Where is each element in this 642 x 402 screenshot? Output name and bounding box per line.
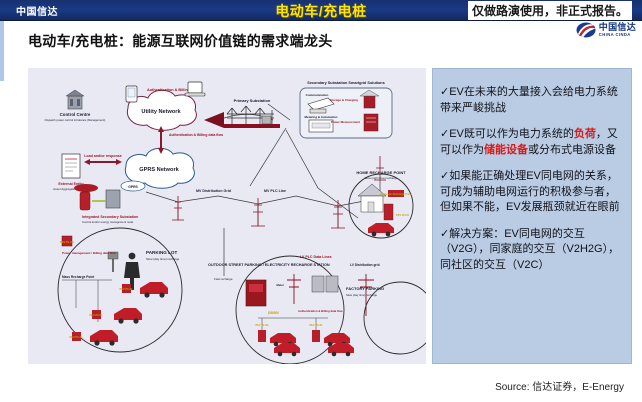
icon-ev-plug-box-6: [258, 330, 266, 342]
header-disclaimer: 仅做路演使用，非正式报告。: [468, 1, 632, 20]
bullet-2-highlight-2: 储能设备: [484, 144, 528, 156]
label-control-centre: Control Centre: [60, 112, 91, 117]
node-factory-parking: LV Distribution grid FACTORY PARKING Slo…: [346, 263, 426, 354]
insight-panel: ✓EV在未来的大量接入会给电力系统带来严峻挑战 ✓EV既可以作为电力系统的负荷，…: [432, 68, 632, 364]
icon-distribution-boxes: [312, 276, 338, 292]
slide-root: 中国信达 电动车/充电桩 仅做路演使用，非正式报告。 中国信达 CHINA CI…: [0, 0, 642, 402]
source-note: Source: 信达证券，E-Energy: [495, 378, 624, 393]
node-outdoor-street: OUTDOOR STREET PARKING / ELECTRICITY REC…: [208, 256, 354, 364]
label-outdoor-street-sub: Fast recharge: [214, 277, 233, 281]
label-power-management: Power management / Billing data flow: [62, 251, 117, 255]
page-title: 电动车/充电桩：能源互联网价值链的需求端龙头: [28, 31, 333, 51]
label-sub-storage: Storage & Charging: [330, 98, 358, 102]
label-primary-substation: Primary Substation: [234, 98, 271, 103]
node-external-entity: [62, 154, 80, 178]
label-ev-plug-4: PEV PLUG: [69, 335, 82, 339]
label-ev-plug-1: PEV PLUG: [60, 240, 74, 244]
label-control-centre-sub: Dispatch power control & balance (Manage…: [45, 118, 106, 122]
label-lv-distribution: LV Distribution grid: [350, 263, 380, 267]
cinda-logo: 中国信达 CHINA CINDA: [576, 22, 636, 38]
label-home-recharge-sub: Slow (night time) recharge: [365, 176, 398, 180]
label-ev-plug-3: PEV PLUG: [89, 313, 102, 317]
label-gprs-network: GPRS Network: [139, 167, 179, 173]
label-ev-plug-5: PEV PLUG: [396, 213, 409, 217]
label-home-recharge: HOME RECHARGE POINT: [356, 170, 406, 175]
label-outdoor-street: OUTDOOR STREET PARKING / ELECTRICITY REC…: [208, 263, 330, 267]
cinda-swoosh-icon: [576, 22, 596, 38]
label-ev-plug-2: PEV PLUG: [119, 287, 132, 291]
check-icon-3: ✓: [440, 170, 449, 182]
label-domestic-recharge: Domestic Recharge Point: [380, 192, 412, 196]
icon-street-pylon: [287, 274, 301, 304]
check-icon-1: ✓: [440, 86, 449, 98]
label-parking-lot-sub: Slow (day time) recharge: [146, 257, 180, 261]
icon-sign-post: [112, 258, 114, 272]
bullet-item-4: ✓解决方案：EV同电网的交互（V2G），同家庭的交互（V2H2G），同社区的交互…: [440, 227, 624, 274]
icon-ev-plug-box-7: [312, 330, 320, 342]
bullet-1-text: EV在未来的大量接入会给电力系统带来严峻挑战: [440, 86, 618, 114]
logo-text-cn: 中国信达: [599, 23, 636, 32]
node-primary-substation: [224, 106, 280, 128]
bullet-item-3: ✓如果能正确处理EV同电网的关系，可成为辅助电网运行的积极参与者，但如果不能，E…: [440, 169, 624, 216]
icon-power-measurement: [364, 114, 378, 131]
label-ev-plug-6: PEV PLUG: [255, 323, 268, 327]
label-meter: Meter: [277, 283, 285, 287]
label-integrated-secondary: Integrated Secondary Substation: [82, 215, 138, 219]
icon-laptop-device: [185, 82, 205, 96]
bullet-item-1: ✓EV在未来的大量接入会给电力系统带来严峻挑战: [440, 85, 624, 116]
icon-metering: [309, 120, 333, 132]
label-factory-parking: FACTORY PARKING: [346, 286, 384, 291]
node-integrated-secondary: GPRS: [74, 181, 145, 210]
label-parking-lot: PARKING LOT: [146, 250, 177, 255]
label-mv-plc-line: MV PLC Line: [264, 189, 286, 193]
label-mv-distribution: MV Distribution Grid: [196, 189, 231, 193]
bullet-4-text: 解决方案：EV同电网的交互（V2G），同家庭的交互（V2H2G），同社区的交互（…: [440, 228, 619, 271]
logo-text-en: CHINA CINDA: [599, 33, 636, 37]
label-ev-plug-7: PEV PLUG: [309, 323, 322, 327]
diagram-canvas: Utility Network GPRS Network Authenticat…: [28, 68, 426, 364]
node-secondary-substation-box: Secondary Substation Smartgrid Solutions…: [300, 81, 392, 138]
label-authentication-billing: Authentication & Billing: [147, 88, 191, 92]
label-integrated-secondary-sub: Control and/or energy management node: [82, 220, 134, 224]
bullet-2-highlight-1: 负荷: [574, 128, 596, 140]
bullet-2-part-3: 或分布式电源设备: [528, 144, 616, 156]
bullet-2-part-1: EV既可以作为电力系统的: [449, 128, 574, 140]
label-sub-metering: Metering & Automation: [305, 115, 338, 119]
logo-text: 中国信达 CHINA CINDA: [599, 23, 636, 37]
icon-house: [358, 184, 386, 212]
check-icon-2: ✓: [440, 128, 449, 140]
icon-recharge-cabinet: [246, 280, 266, 306]
label-mass-recharge: Mass Recharge Point: [62, 275, 95, 279]
arrow-to-primary-substation: [204, 112, 224, 128]
label-auth-billing-flow: Authentication & Billing data flow: [169, 133, 223, 137]
label-secondary-substation: Secondary Substation Smartgrid Solutions: [307, 81, 384, 85]
node-control-centre: [66, 90, 84, 109]
label-sub-communication: Communication: [306, 93, 329, 97]
icon-home-charger: [384, 204, 393, 220]
bullet-item-2: ✓EV既可以作为电力系统的负荷，又可以作为储能设备或分布式电源设备: [440, 127, 624, 158]
left-accent-bar: [0, 21, 4, 81]
label-utility-network: Utility Network: [141, 109, 181, 115]
icon-mobile-device: [126, 86, 137, 102]
icon-car-1: [140, 282, 168, 298]
label-auth-billing-flow-2: Authentication & Billing data flow: [298, 309, 343, 313]
label-db-mv: DB/MV: [268, 311, 280, 315]
node-parking-lot: PARKING LOT Slow (day time) recharge PEV…: [58, 228, 182, 352]
icon-car-2: [114, 308, 142, 324]
label-gprs-tag: GPRS: [128, 185, 138, 189]
bullet-3-text: 如果能正确处理EV同电网的关系，可成为辅助电网运行的积极参与者，但如果不能，EV…: [440, 170, 620, 213]
icon-car-home: [368, 223, 394, 236]
ev-grid-diagram: Utility Network GPRS Network Authenticat…: [28, 68, 426, 364]
icon-car-3: [90, 330, 118, 346]
label-sub-power: Power Measurement: [331, 120, 360, 124]
label-load-response: Load and/or response: [84, 154, 122, 158]
check-icon-4: ✓: [440, 228, 449, 240]
arrow-load-response: [84, 159, 122, 165]
